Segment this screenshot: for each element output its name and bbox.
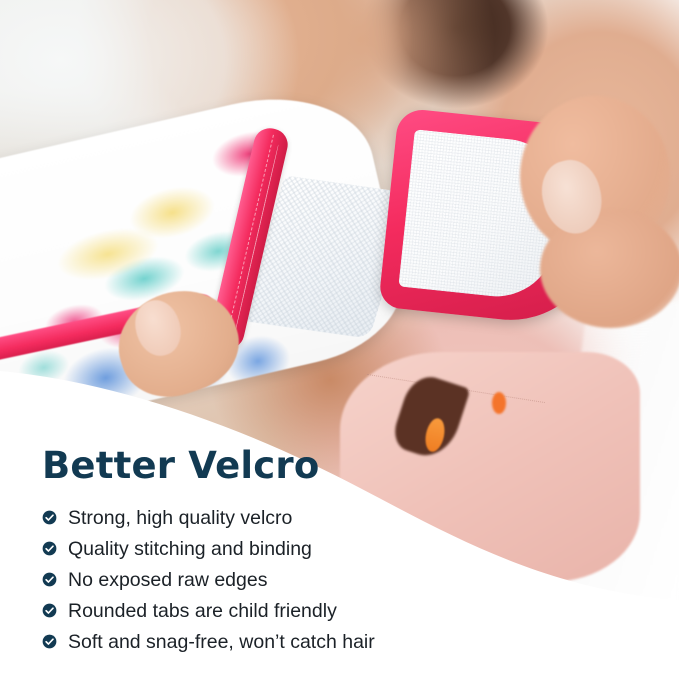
list-item-label: Quality stitching and binding	[68, 536, 312, 562]
feature-list: Strong, high quality velcro Quality stit…	[42, 502, 642, 657]
list-item-label: Rounded tabs are child friendly	[68, 598, 337, 624]
list-item: No exposed raw edges	[42, 564, 642, 595]
shirt-print-accent-2	[492, 392, 506, 414]
check-circle-icon	[42, 541, 57, 556]
list-item: Strong, high quality velcro	[42, 502, 642, 533]
list-item: Quality stitching and binding	[42, 533, 642, 564]
list-item-label: Soft and snag-free, won’t catch hair	[68, 629, 375, 655]
check-circle-icon	[42, 510, 57, 525]
list-item-label: No exposed raw edges	[68, 567, 267, 593]
product-feature-card: Better Velcro Strong, high quality velcr…	[0, 0, 679, 679]
list-item: Rounded tabs are child friendly	[42, 595, 642, 626]
check-circle-icon	[42, 603, 57, 618]
list-item-label: Strong, high quality velcro	[68, 505, 292, 531]
feature-text-block: Better Velcro Strong, high quality velcr…	[42, 444, 642, 657]
check-circle-icon	[42, 572, 57, 587]
page-title: Better Velcro	[42, 444, 642, 488]
check-circle-icon	[42, 634, 57, 649]
list-item: Soft and snag-free, won’t catch hair	[42, 626, 642, 657]
